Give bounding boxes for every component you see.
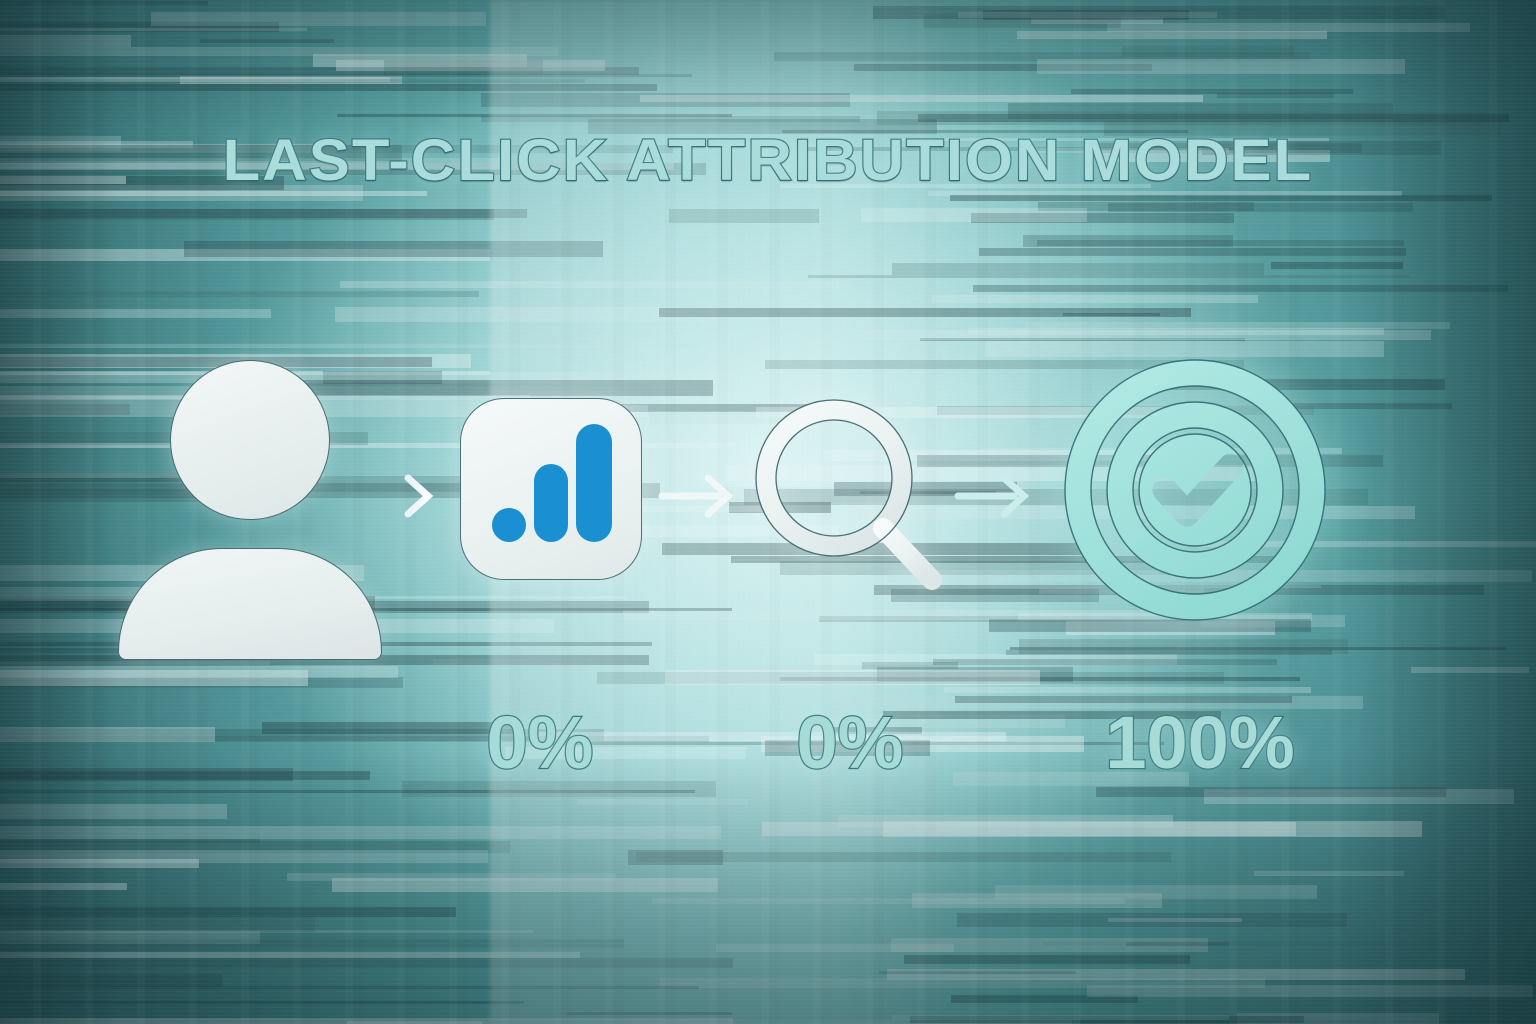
analytics-bar-dot (492, 508, 526, 542)
arrow-right-icon (952, 470, 1040, 522)
credit-label-search: 0% (730, 706, 970, 780)
magnifying-glass-icon (750, 392, 950, 602)
arrow-right-icon (656, 470, 744, 522)
analytics-bar-tall (576, 424, 612, 542)
analytics-bar-medium (534, 464, 568, 542)
target-check-icon (1062, 354, 1328, 626)
page-title: LAST-CLICK ATTRIBUTION MODEL (0, 132, 1536, 190)
user-icon (118, 360, 380, 650)
attribution-flow (100, 352, 1350, 652)
infographic-canvas: LAST-CLICK ATTRIBUTION MODEL (0, 0, 1536, 1024)
user-head-shape (170, 360, 330, 520)
credit-label-analytics: 0% (420, 706, 660, 780)
user-body-shape (118, 548, 382, 660)
credit-label-conversion: 100% (1040, 706, 1360, 780)
analytics-bar-chart-icon (460, 398, 642, 580)
arrow-right-icon (356, 470, 444, 522)
